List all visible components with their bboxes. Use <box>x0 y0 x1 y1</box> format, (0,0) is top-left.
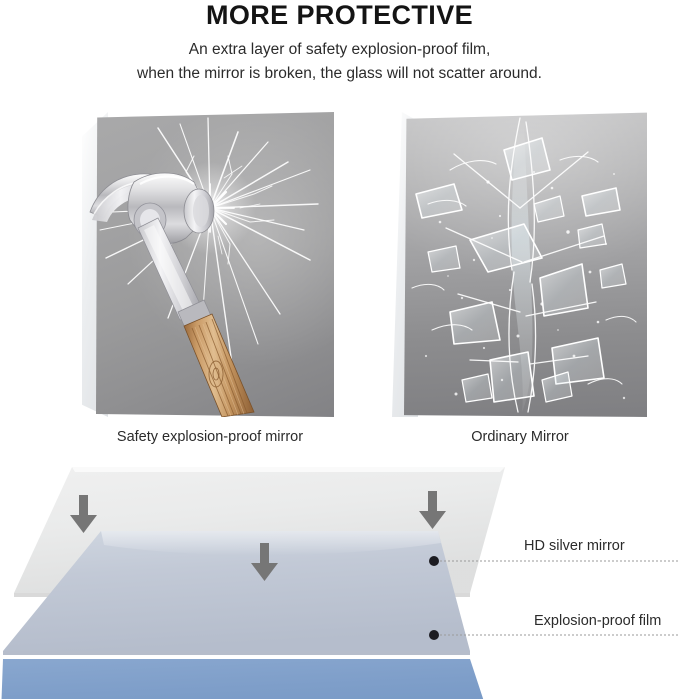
marker-dot-film <box>429 630 439 640</box>
label-hd-silver-mirror: HD silver mirror <box>524 537 625 555</box>
safety-mirror-image <box>82 112 334 417</box>
page-title: MORE PROTECTIVE <box>0 0 679 30</box>
caption-ordinary-mirror: Ordinary Mirror <box>395 428 645 446</box>
subtitle-line-1: An extra layer of safety explosion-proof… <box>0 38 679 62</box>
label-explosion-proof-film: Explosion-proof film <box>534 612 661 630</box>
marker-dot-mirror <box>429 556 439 566</box>
subtitle-line-2: when the mirror is broken, the glass wil… <box>0 62 679 86</box>
mirror-surface <box>404 112 647 417</box>
bottom-film-sheet <box>0 659 497 699</box>
page-subtitle: An extra layer of safety explosion-proof… <box>0 38 679 86</box>
ordinary-mirror-image <box>392 112 647 417</box>
mirror-surface <box>96 112 334 417</box>
layer-structure-diagram <box>0 455 679 699</box>
exploded-layer-illustration <box>0 455 679 699</box>
caption-safety-mirror: Safety explosion-proof mirror <box>60 428 360 446</box>
